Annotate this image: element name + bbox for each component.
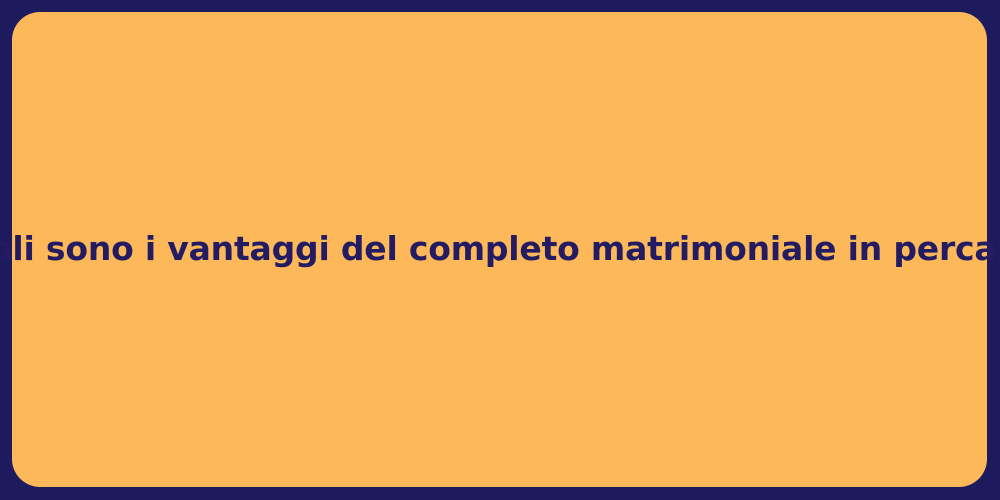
question-card-panel: Quali sono i vantaggi del completo matri… bbox=[12, 12, 987, 487]
question-headline: Quali sono i vantaggi del completo matri… bbox=[0, 228, 1000, 270]
question-card-frame: Quali sono i vantaggi del completo matri… bbox=[0, 0, 1000, 500]
